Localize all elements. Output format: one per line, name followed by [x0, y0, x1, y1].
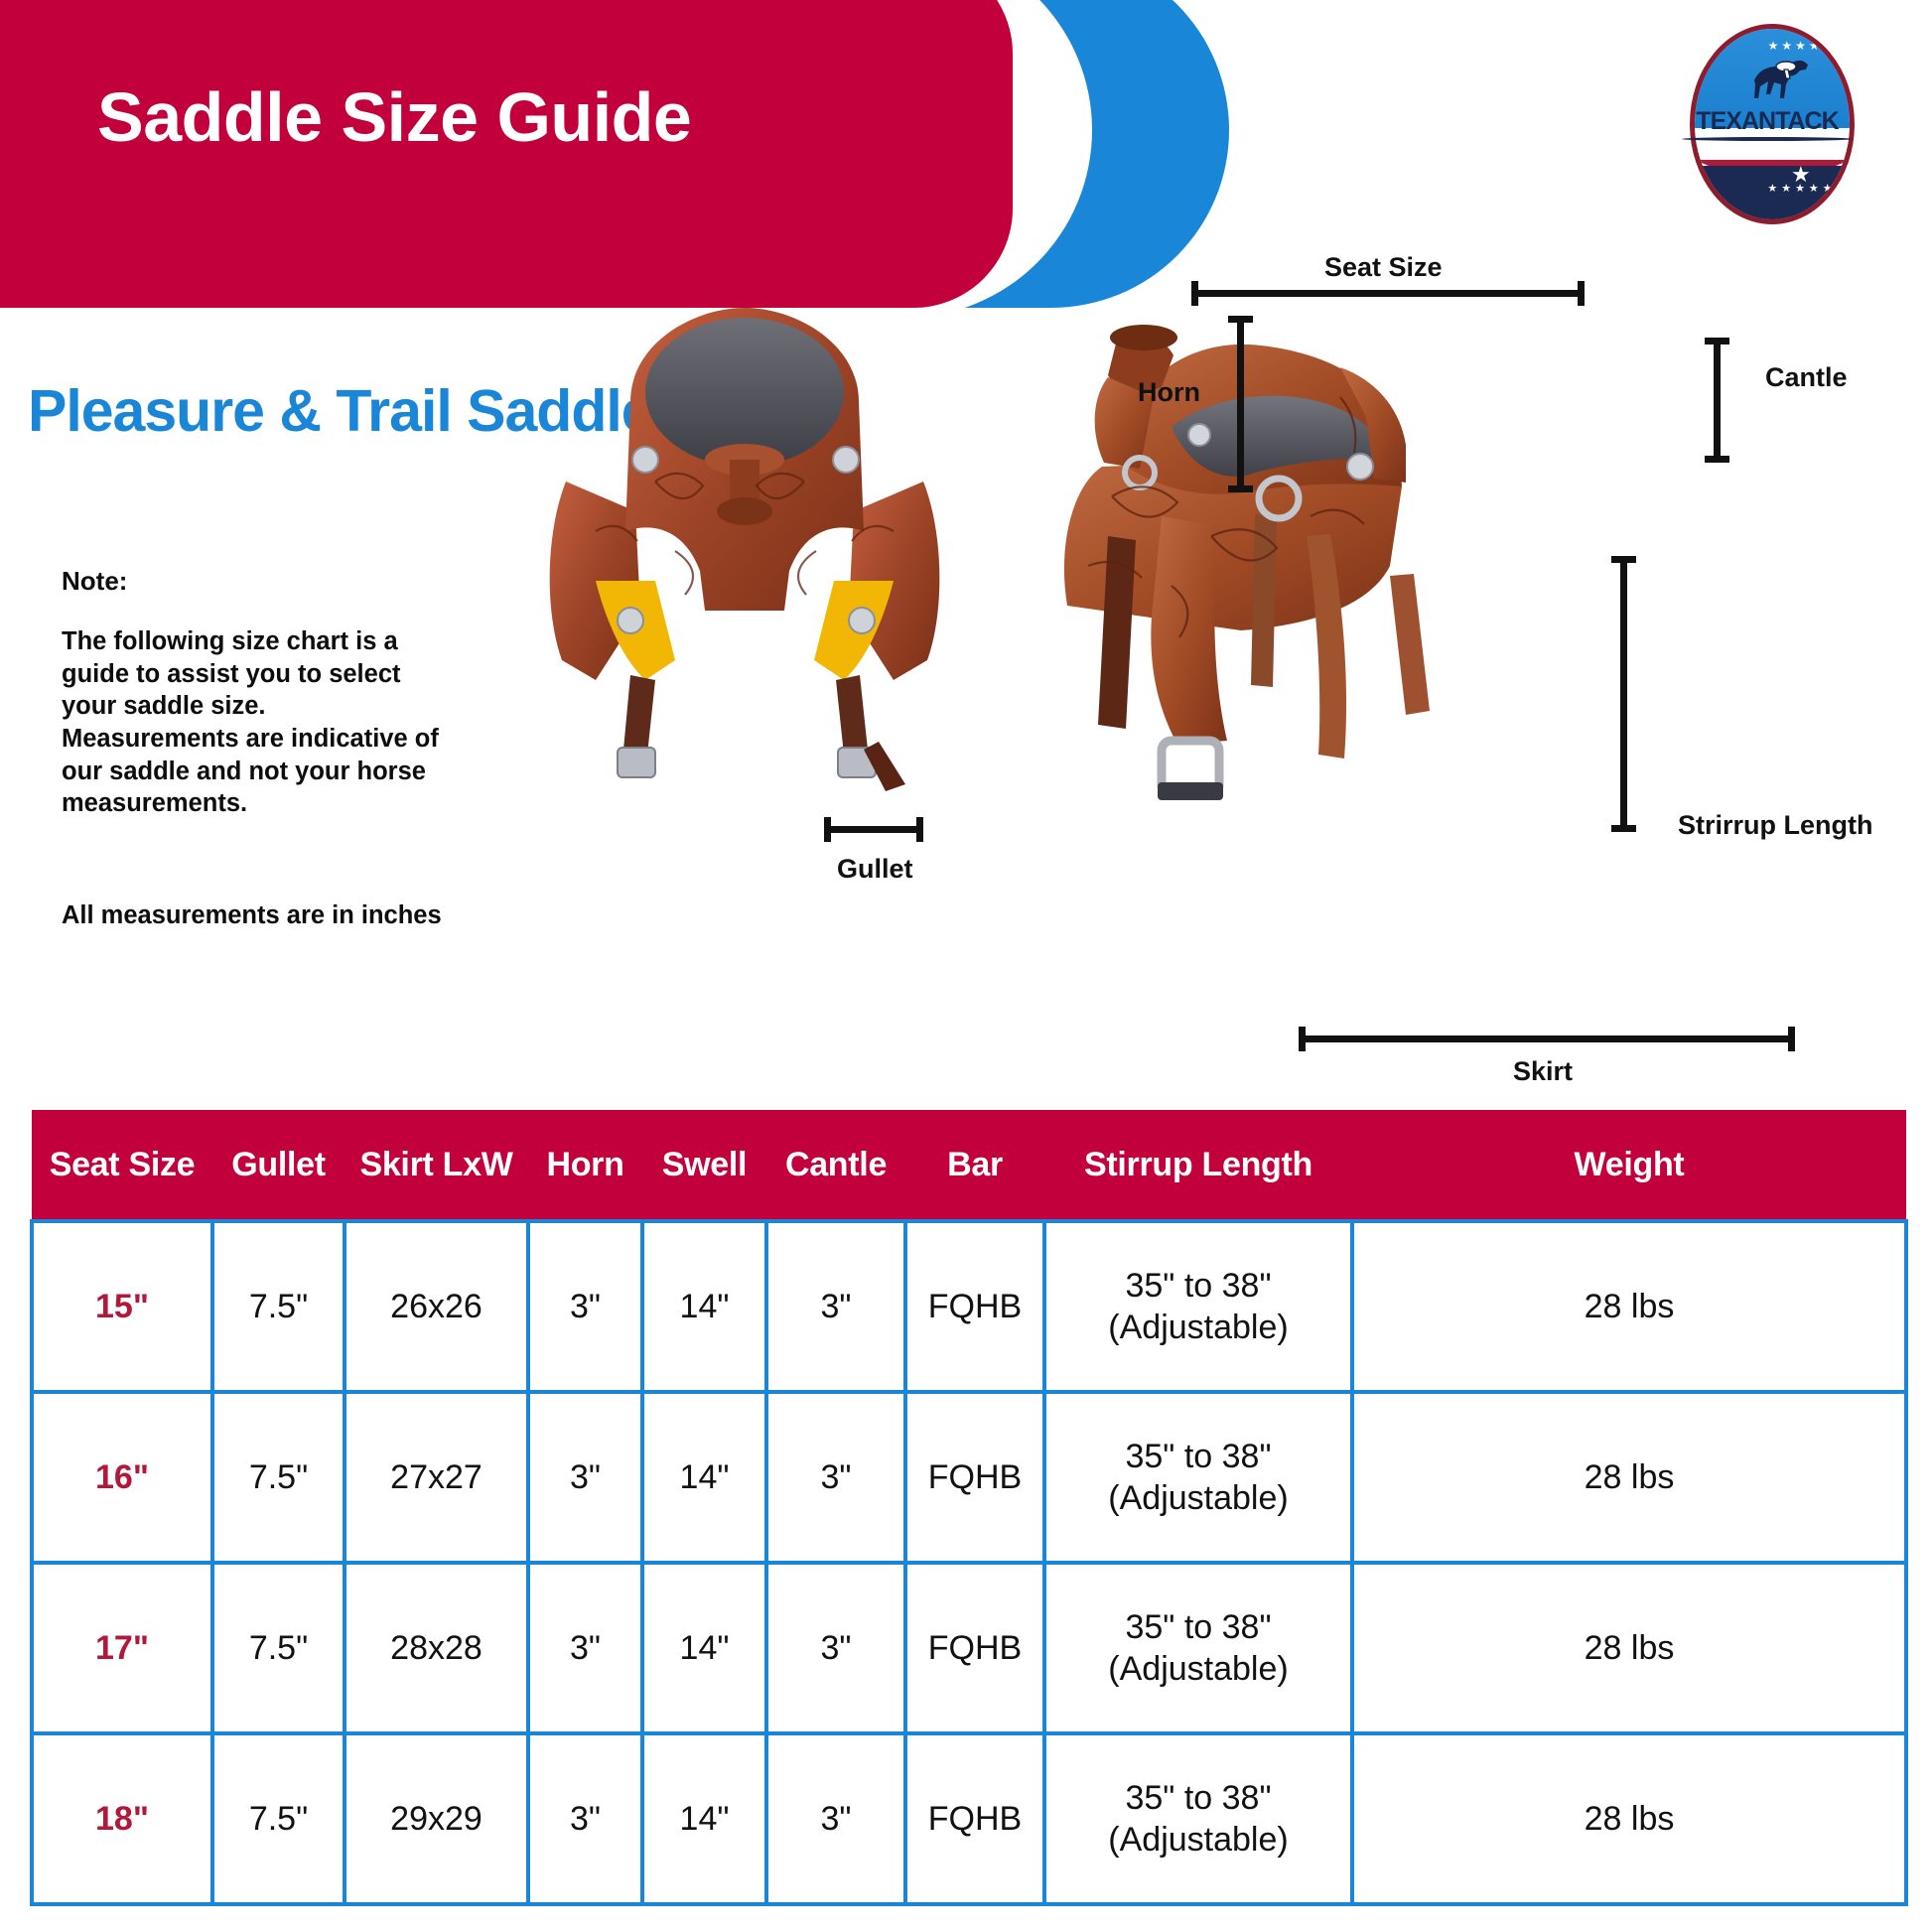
cell-swell: 14"	[642, 1563, 766, 1733]
col-header-skirt: Skirt LxW	[345, 1110, 528, 1221]
cell-weight: 28 lbs	[1352, 1563, 1906, 1733]
col-header-seat-size: Seat Size	[32, 1110, 212, 1221]
cell-swell: 14"	[642, 1221, 766, 1392]
cell-gullet: 7.5"	[212, 1733, 345, 1904]
skirt-label: Skirt	[1513, 1056, 1573, 1087]
cell-horn: 3"	[528, 1733, 642, 1904]
cantle-label: Cantle	[1765, 362, 1848, 393]
cell-cantle: 3"	[766, 1392, 905, 1563]
note-body: The following size chart is a guide to a…	[62, 625, 459, 820]
skirt-measure-bar	[1299, 1035, 1795, 1042]
cell-cantle: 3"	[766, 1563, 905, 1733]
cell-horn: 3"	[528, 1221, 642, 1392]
cell-cantle: 3"	[766, 1733, 905, 1904]
cell-weight: 28 lbs	[1352, 1392, 1906, 1563]
table-row: 15" 7.5" 26x26 3" 14" 3" FQHB 35" to 38"…	[32, 1221, 1906, 1392]
cell-skirt: 29x29	[345, 1733, 528, 1904]
col-header-swell: Swell	[642, 1110, 766, 1221]
col-header-bar: Bar	[905, 1110, 1044, 1221]
cell-bar: FQHB	[905, 1563, 1044, 1733]
cantle-measure-bar	[1714, 338, 1721, 463]
table-row: 16" 7.5" 27x27 3" 14" 3" FQHB 35" to 38"…	[32, 1392, 1906, 1563]
table-header-row: Seat Size Gullet Skirt LxW Horn Swell Ca…	[32, 1110, 1906, 1221]
stirrup-length-measure-bar	[1620, 556, 1627, 832]
cell-seat-size: 16"	[32, 1392, 212, 1563]
cell-seat-size: 15"	[32, 1221, 212, 1392]
note-footer: All measurements are in inches	[62, 901, 479, 930]
table-row: 17" 7.5" 28x28 3" 14" 3" FQHB 35" to 38"…	[32, 1563, 1906, 1733]
cell-horn: 3"	[528, 1563, 642, 1733]
page-title: Saddle Size Guide	[97, 77, 691, 157]
cell-weight: 28 lbs	[1352, 1221, 1906, 1392]
cell-stirrup: 35" to 38" (Adjustable)	[1044, 1221, 1352, 1392]
cell-skirt: 26x26	[345, 1221, 528, 1392]
cell-seat-size: 18"	[32, 1733, 212, 1904]
stirrup-length-label: Strirrup Length	[1678, 810, 1873, 841]
cell-horn: 3"	[528, 1392, 642, 1563]
cell-gullet: 7.5"	[212, 1563, 345, 1733]
cell-swell: 14"	[642, 1733, 766, 1904]
cell-gullet: 7.5"	[212, 1392, 345, 1563]
cell-weight: 28 lbs	[1352, 1733, 1906, 1904]
page-header: Saddle Size Guide	[0, 0, 1932, 260]
cell-skirt: 27x27	[345, 1392, 528, 1563]
horn-measure-bar	[1237, 316, 1244, 492]
col-header-horn: Horn	[528, 1110, 642, 1221]
logo-stars-bottom-icon: ★★★★★	[1744, 182, 1855, 195]
gullet-label: Gullet	[837, 854, 913, 885]
cell-bar: FQHB	[905, 1221, 1044, 1392]
cell-stirrup: 35" to 38" (Adjustable)	[1044, 1563, 1352, 1733]
cell-bar: FQHB	[905, 1392, 1044, 1563]
saddle-size-table: Seat Size Gullet Skirt LxW Horn Swell Ca…	[30, 1110, 1908, 1906]
logo-brand-text: TEXANTACK	[1676, 107, 1859, 136]
brand-logo: ★★★★★ ★ ★★★★★ TEXANTACK	[1660, 22, 1874, 216]
horn-label: Horn	[1138, 377, 1200, 408]
col-header-weight: Weight	[1352, 1110, 1906, 1221]
gullet-measure-bar	[824, 826, 923, 833]
col-header-cantle: Cantle	[766, 1110, 905, 1221]
cell-seat-size: 17"	[32, 1563, 212, 1733]
saddle-front-view-image	[536, 283, 953, 799]
cell-bar: FQHB	[905, 1733, 1044, 1904]
logo-underline	[1682, 137, 1853, 141]
cell-gullet: 7.5"	[212, 1221, 345, 1392]
horse-icon	[1746, 51, 1818, 106]
col-header-stirrup: Stirrup Length	[1044, 1110, 1352, 1221]
cell-stirrup: 35" to 38" (Adjustable)	[1044, 1392, 1352, 1563]
table-row: 18" 7.5" 29x29 3" 14" 3" FQHB 35" to 38"…	[32, 1733, 1906, 1904]
seat-size-label: Seat Size	[1324, 252, 1443, 283]
cell-skirt: 28x28	[345, 1563, 528, 1733]
cell-cantle: 3"	[766, 1221, 905, 1392]
note-heading: Note:	[62, 566, 127, 597]
col-header-gullet: Gullet	[212, 1110, 345, 1221]
cell-swell: 14"	[642, 1392, 766, 1563]
cell-stirrup: 35" to 38" (Adjustable)	[1044, 1733, 1352, 1904]
seat-size-measure-bar	[1191, 290, 1585, 297]
